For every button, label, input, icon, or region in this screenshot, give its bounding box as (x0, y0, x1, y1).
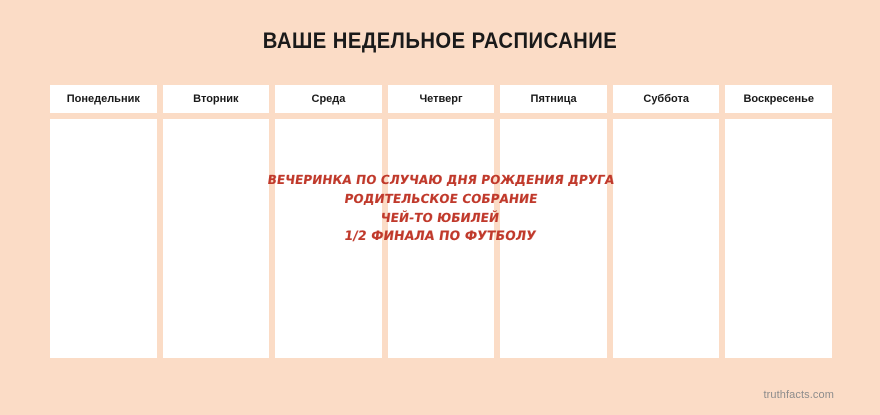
day-header-thursday: Четверг (388, 85, 495, 113)
day-header-wednesday: Среда (275, 85, 382, 113)
day-column-sunday: Воскресенье (725, 85, 832, 358)
day-header-tuesday: Вторник (163, 85, 270, 113)
weekly-calendar-grid: Понедельник Вторник Среда Четверг Пятниц… (50, 85, 832, 358)
day-cell-tuesday[interactable] (163, 119, 270, 358)
day-cell-saturday[interactable] (613, 119, 720, 358)
day-cell-monday[interactable] (50, 119, 157, 358)
day-cell-sunday[interactable] (725, 119, 832, 358)
day-header-sunday: Воскресенье (725, 85, 832, 113)
weekly-schedule-poster: ВАШЕ НЕДЕЛЬНОЕ РАСПИСАНИЕ Понедельник Вт… (0, 0, 880, 415)
day-cell-wednesday[interactable] (275, 119, 382, 358)
day-header-friday: Пятница (500, 85, 607, 113)
day-column-saturday: Суббота (613, 85, 720, 358)
page-title: ВАШЕ НЕДЕЛЬНОЕ РАСПИСАНИЕ (35, 28, 845, 54)
site-watermark: truthfacts.com (764, 389, 834, 401)
day-column-thursday: Четверг (388, 85, 495, 358)
day-cell-thursday[interactable] (388, 119, 495, 358)
day-header-monday: Понедельник (50, 85, 157, 113)
day-column-monday: Понедельник (50, 85, 157, 358)
day-cell-friday[interactable] (500, 119, 607, 358)
day-column-friday: Пятница (500, 85, 607, 358)
day-column-wednesday: Среда (275, 85, 382, 358)
day-column-tuesday: Вторник (163, 85, 270, 358)
day-header-saturday: Суббота (613, 85, 720, 113)
